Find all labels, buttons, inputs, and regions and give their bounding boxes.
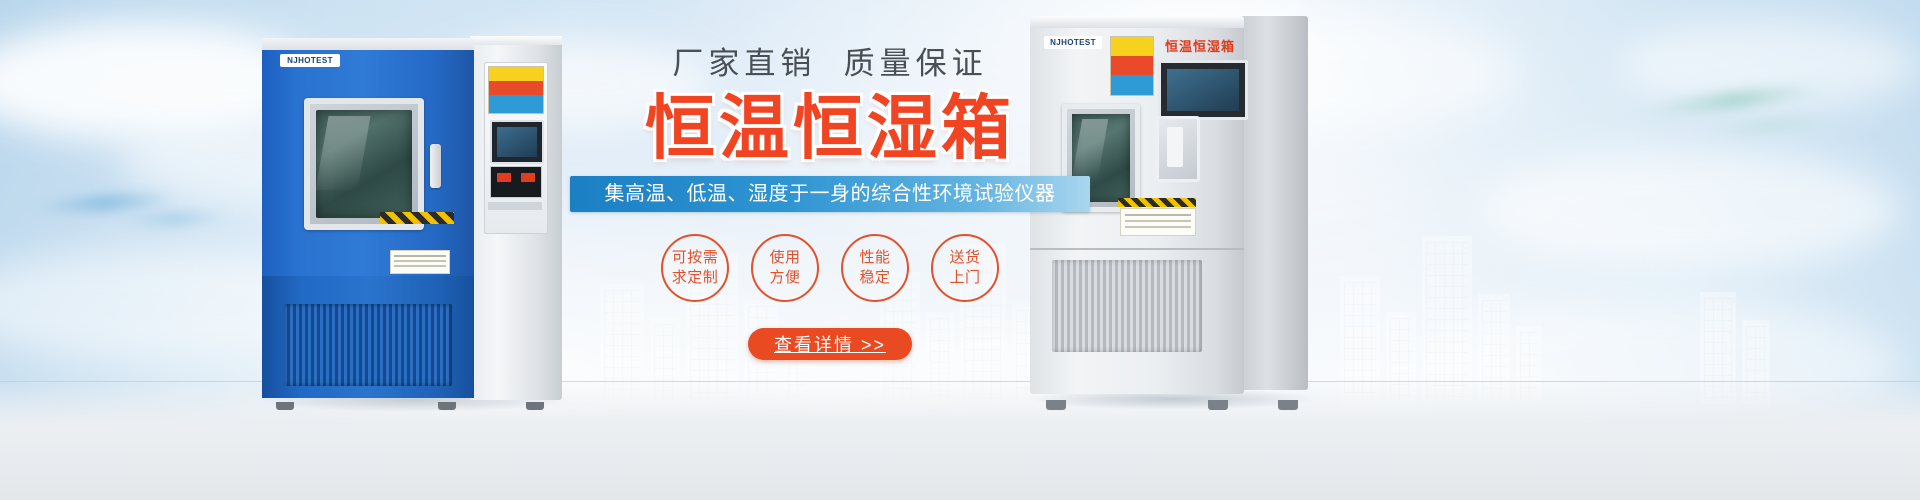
- product-warning-labels: [1110, 36, 1154, 96]
- product-vent-grille: [284, 304, 452, 386]
- product-spec-sticker: [390, 250, 450, 274]
- product-panel-nameplate: [488, 202, 542, 210]
- product-foot: [276, 402, 294, 410]
- badge-line-1: 可按需: [672, 248, 719, 268]
- product-foot: [1046, 400, 1066, 410]
- feature-badge-stable[interactable]: 性能 稳定: [841, 234, 909, 302]
- badge-line-1: 性能: [859, 248, 890, 268]
- product-door-handle: [430, 144, 441, 188]
- product-spec-sticker: [1120, 208, 1196, 236]
- product-side-panel: [1240, 16, 1308, 390]
- product-model-title: 恒温恒湿箱: [1158, 38, 1242, 55]
- feature-badge-delivery[interactable]: 送货 上门: [931, 234, 999, 302]
- product-side-top: [470, 36, 562, 45]
- product-hmi-screen: [490, 120, 544, 164]
- badge-line-1: 送货: [949, 248, 980, 268]
- product-foot: [526, 402, 544, 410]
- cta-wrapper: 查看详情 >>: [570, 328, 1090, 360]
- banner-main-title: 恒温恒湿箱: [570, 86, 1090, 170]
- badge-line-1: 使用: [769, 248, 800, 268]
- product-top-cap: [262, 38, 474, 50]
- promo-banner: NJHOTEST NJHOTEST 恒温恒湿箱: [0, 0, 1920, 500]
- banner-headline: 厂家直销 质量保证: [570, 44, 1090, 84]
- product-top-cap: [1030, 16, 1244, 28]
- feature-badge-custom[interactable]: 可按需 求定制: [661, 234, 729, 302]
- banner-copy-block: 厂家直销 质量保证 恒温恒湿箱 集高温、低温、湿度于一身的综合性环境试验仪器 可…: [570, 44, 1090, 360]
- product-foot: [1208, 400, 1228, 410]
- product-hmi-screen: [1158, 60, 1248, 120]
- badge-line-2: 稳定: [859, 268, 890, 288]
- product-foot: [438, 402, 456, 410]
- banner-subtitle-text: 集高温、低温、湿度于一身的综合性环境试验仪器: [605, 176, 1056, 212]
- product-hazard-stripe: [1118, 198, 1196, 207]
- view-details-button[interactable]: 查看详情 >>: [748, 328, 912, 360]
- product-image-left-chamber: NJHOTEST: [262, 36, 562, 404]
- badge-line-2: 求定制: [672, 268, 719, 288]
- banner-subtitle-bar: 集高温、低温、湿度于一身的综合性环境试验仪器: [570, 176, 1090, 212]
- product-brand-logo: NJHOTEST: [280, 54, 340, 67]
- product-warning-labels: [488, 66, 544, 114]
- badge-line-2: 上门: [949, 268, 980, 288]
- product-door-window: [304, 98, 424, 230]
- feature-badge-list: 可按需 求定制 使用 方便 性能 稳定 送货 上门: [570, 234, 1090, 302]
- badge-line-2: 方便: [769, 268, 800, 288]
- product-controller-display: [490, 166, 542, 198]
- product-foot: [1278, 400, 1298, 410]
- product-door-glass: [316, 110, 412, 218]
- feature-badge-easy-use[interactable]: 使用 方便: [751, 234, 819, 302]
- product-hazard-stripe: [380, 212, 454, 224]
- product-secondary-door: [1156, 116, 1200, 182]
